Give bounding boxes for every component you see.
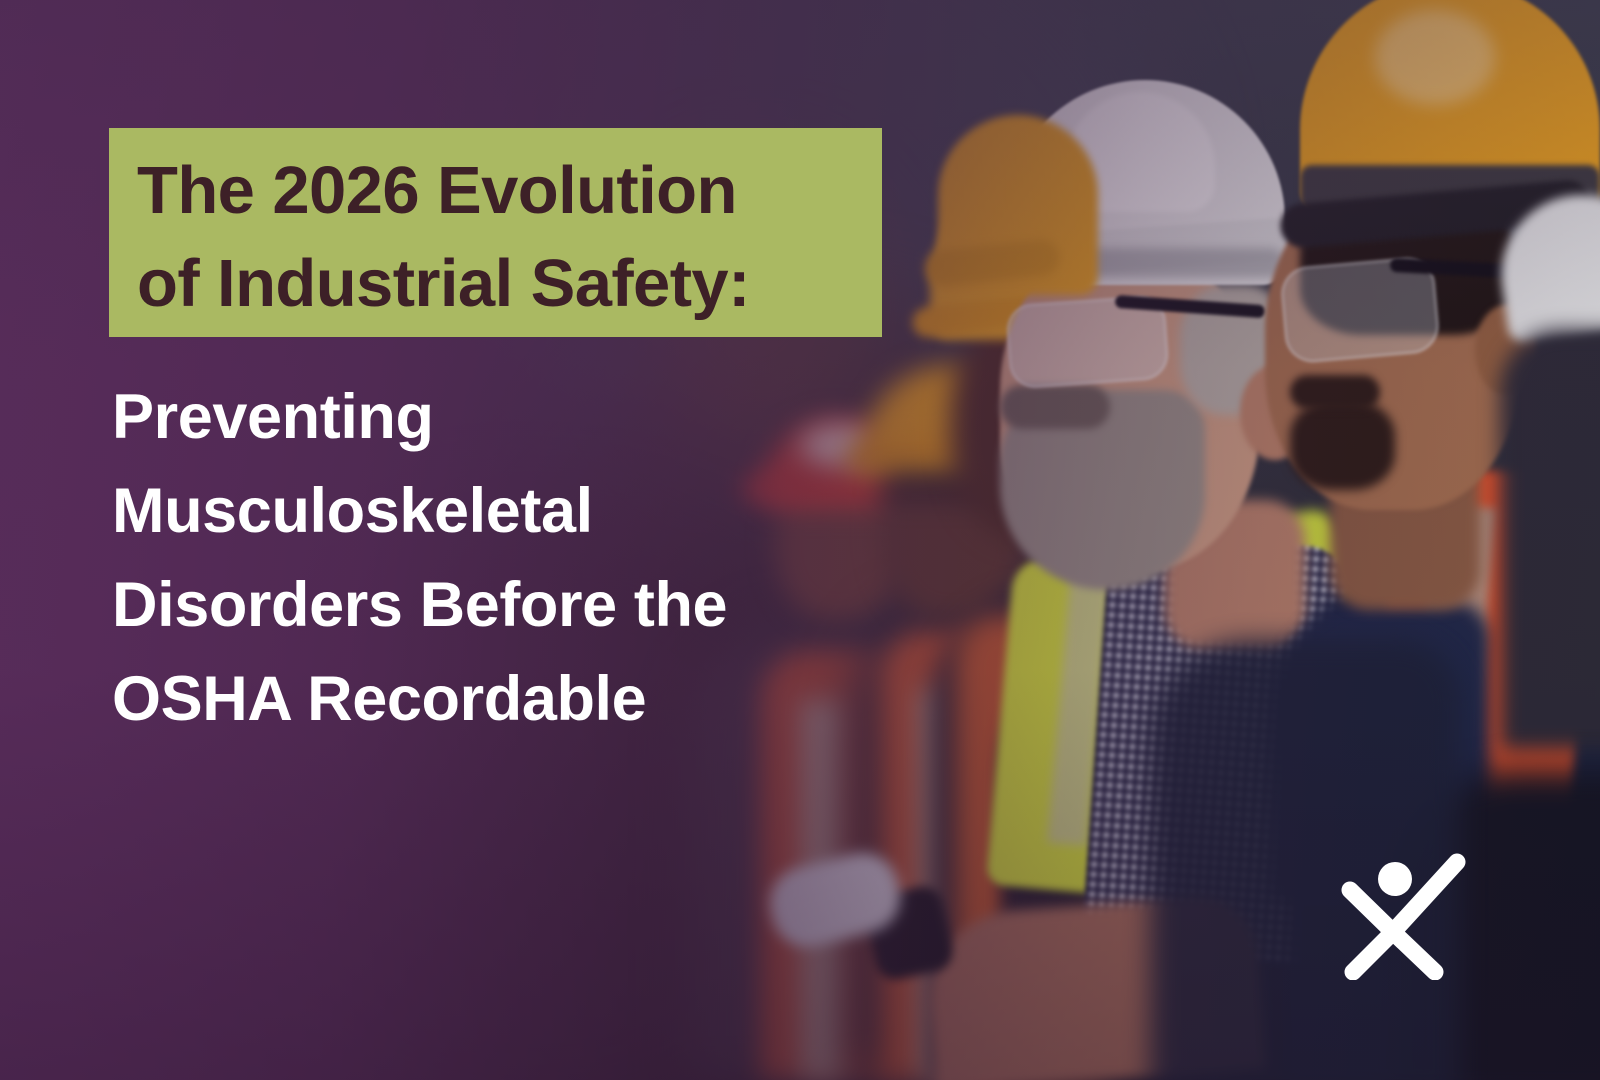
subtitle-line-2: Musculoskeletal <box>112 464 932 558</box>
person-x-logo-icon <box>1337 846 1469 980</box>
person-head-icon <box>1378 862 1412 896</box>
subtitle-block: Preventing Musculoskeletal Disorders Bef… <box>112 370 932 746</box>
subtitle-line-1: Preventing <box>112 370 932 464</box>
headline-line-2: of Industrial Safety: <box>137 237 882 330</box>
headline-green-box: The 2026 Evolution of Industrial Safety: <box>109 128 882 337</box>
subtitle-line-4: OSHA Recordable <box>112 652 932 746</box>
subtitle-line-3: Disorders Before the <box>112 558 932 652</box>
headline-line-1: The 2026 Evolution <box>137 144 882 237</box>
poster-canvas: The 2026 Evolution of Industrial Safety:… <box>0 0 1600 1080</box>
brand-logo <box>1337 846 1469 980</box>
